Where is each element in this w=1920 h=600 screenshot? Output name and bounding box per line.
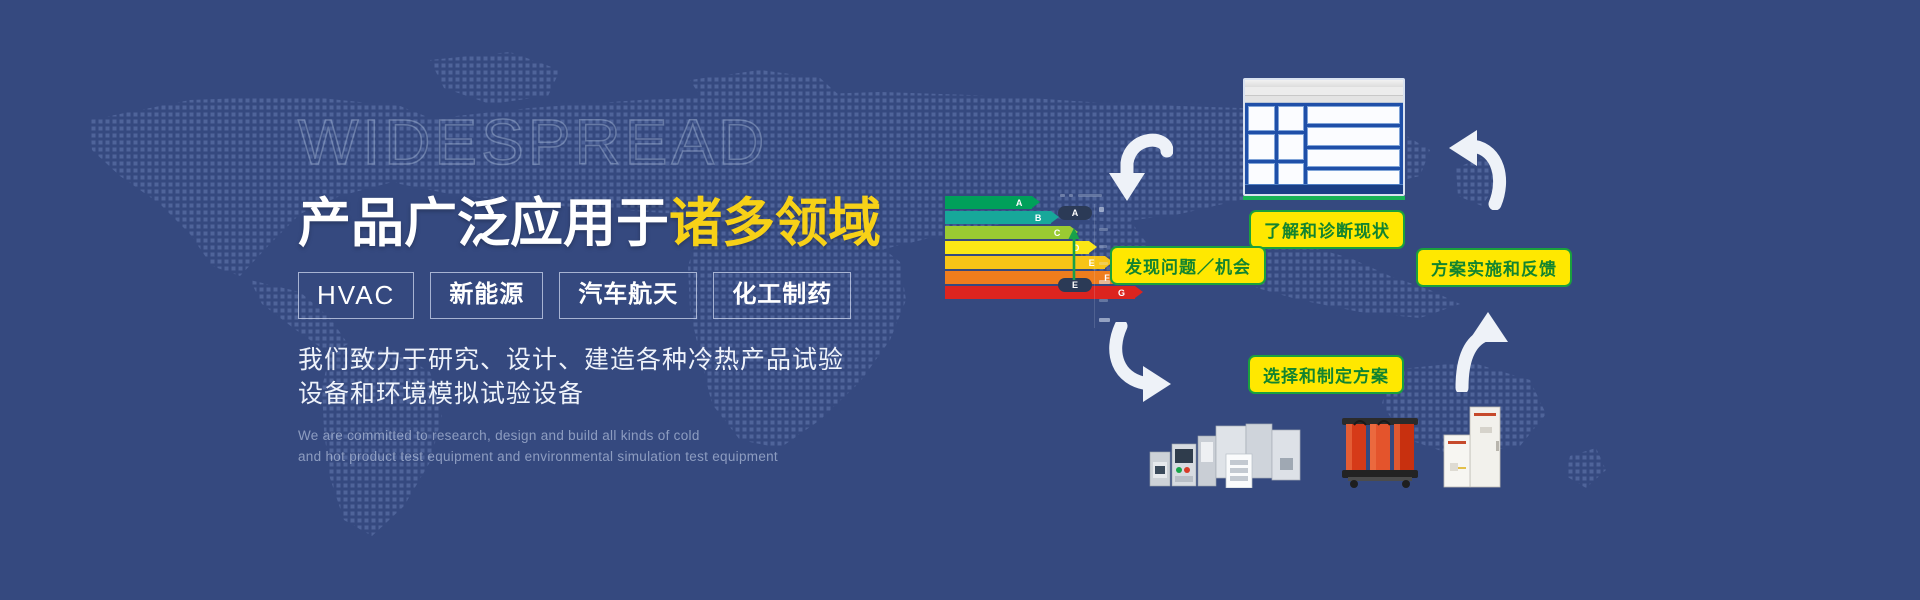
equipment-cabinets-image (1440, 405, 1502, 490)
energy-bar-a: A (945, 196, 1032, 209)
callout-discover[interactable]: 发现问题／机会 (1110, 246, 1266, 285)
software-pane (1307, 106, 1400, 124)
tag-chem-pharma[interactable]: 化工制药 (713, 272, 851, 319)
software-pane (1248, 106, 1275, 131)
software-pane (1307, 149, 1400, 167)
software-pane (1248, 134, 1275, 159)
control-software-window (1243, 78, 1405, 196)
title-yellow-part: 诸多领域 (669, 193, 881, 254)
description-zh: 我们致力于研究、设计、建造各种冷热产品试验 设备和环境模拟试验设备 (298, 343, 978, 411)
tag-hvac[interactable]: HVAC (298, 272, 414, 319)
callout-select[interactable]: 选择和制定方案 (1248, 355, 1404, 394)
page-title: 产品广泛应用于诸多领域 (298, 196, 978, 252)
equipment-drives-image (1148, 418, 1303, 488)
description-en-line1: We are committed to research, design and… (298, 426, 978, 446)
software-pane (1278, 134, 1305, 159)
description-zh-line1: 我们致力于研究、设计、建造各种冷热产品试验 (298, 343, 978, 377)
tag-auto-aero[interactable]: 汽车航天 (559, 272, 697, 319)
monitor-base-bar (1243, 196, 1405, 200)
arrow-bottom-left-icon (1105, 322, 1177, 402)
software-pane (1278, 106, 1305, 131)
window-content (1245, 103, 1403, 191)
energy-bar-b: B (945, 211, 1051, 224)
hero-banner: WIDESPREAD 产品广泛应用于诸多领域 HVAC 新能源 汽车航天 化工制… (0, 0, 1920, 600)
title-white-part: 产品广泛应用于 (298, 193, 669, 254)
callout-implement[interactable]: 方案实施和反馈 (1416, 248, 1572, 287)
arrow-bottom-right-icon (1448, 312, 1514, 392)
software-pane (1307, 127, 1400, 145)
arrow-top-right-icon (1443, 128, 1513, 210)
callout-diagnose[interactable]: 了解和诊断现状 (1249, 210, 1405, 249)
window-tabstrip (1245, 96, 1403, 103)
arrow-top-left-icon (1105, 133, 1173, 205)
window-titlebar (1245, 80, 1403, 87)
green-up-arrow-icon (1067, 226, 1081, 282)
description-en-line2: and hot product test equipment and envir… (298, 447, 978, 467)
grade-pill-current: A (1058, 206, 1092, 220)
description-zh-line2: 设备和环境模拟试验设备 (298, 377, 978, 411)
tag-new-energy[interactable]: 新能源 (430, 272, 543, 319)
equipment-transformer-image (1338, 412, 1422, 488)
headline-block: WIDESPREAD 产品广泛应用于诸多领域 HVAC 新能源 汽车航天 化工制… (298, 110, 978, 467)
ghost-headline: WIDESPREAD (298, 110, 978, 174)
description-en: We are committed to research, design and… (298, 426, 978, 467)
window-toolbar (1245, 87, 1403, 96)
window-statusbar (1245, 184, 1403, 194)
industry-tag-list: HVAC 新能源 汽车航天 化工制药 (298, 272, 978, 319)
